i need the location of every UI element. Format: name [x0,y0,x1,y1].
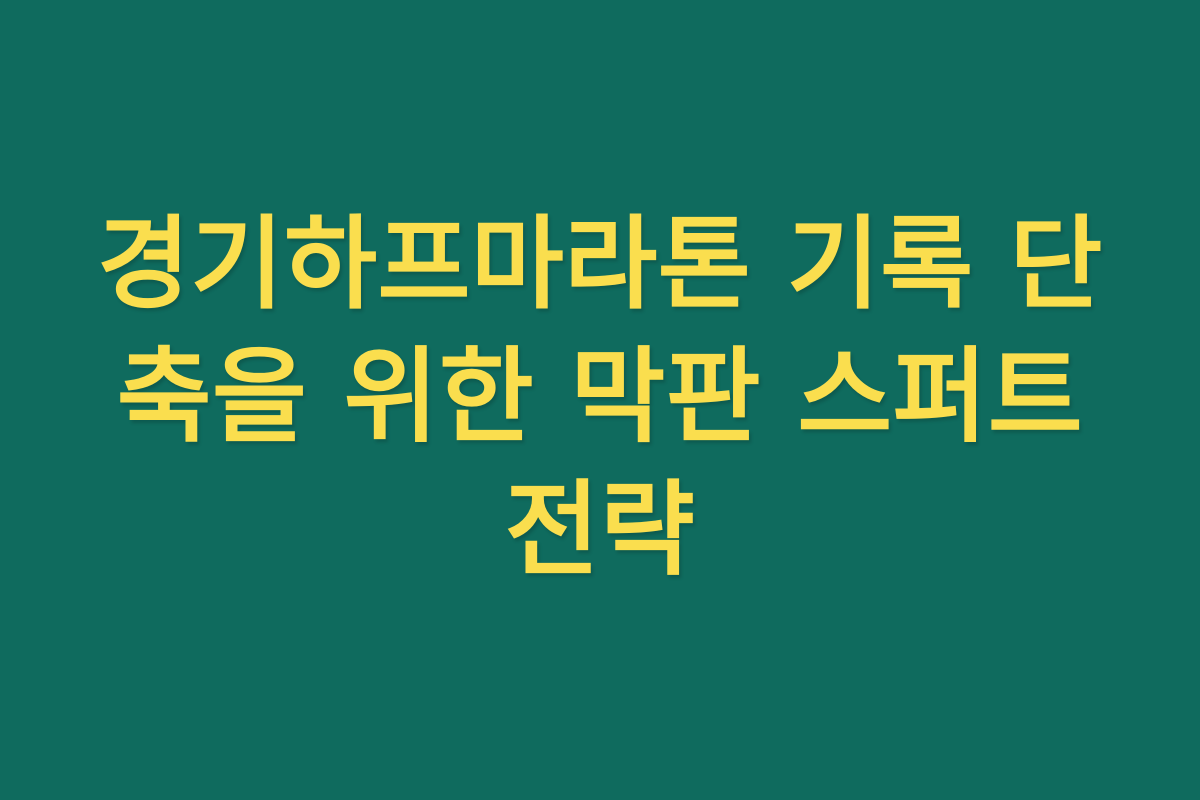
title-banner: 경기하프마라톤 기록 단 축을 위한 막판 스퍼트 전략 [0,0,1200,800]
title-line-1: 경기하프마라톤 기록 단 [70,198,1130,331]
title-line-3: 전략 [70,464,1130,597]
title-line-2: 축을 위한 막판 스퍼트 [70,331,1130,464]
page-title: 경기하프마라톤 기록 단 축을 위한 막판 스퍼트 전략 [70,198,1130,603]
